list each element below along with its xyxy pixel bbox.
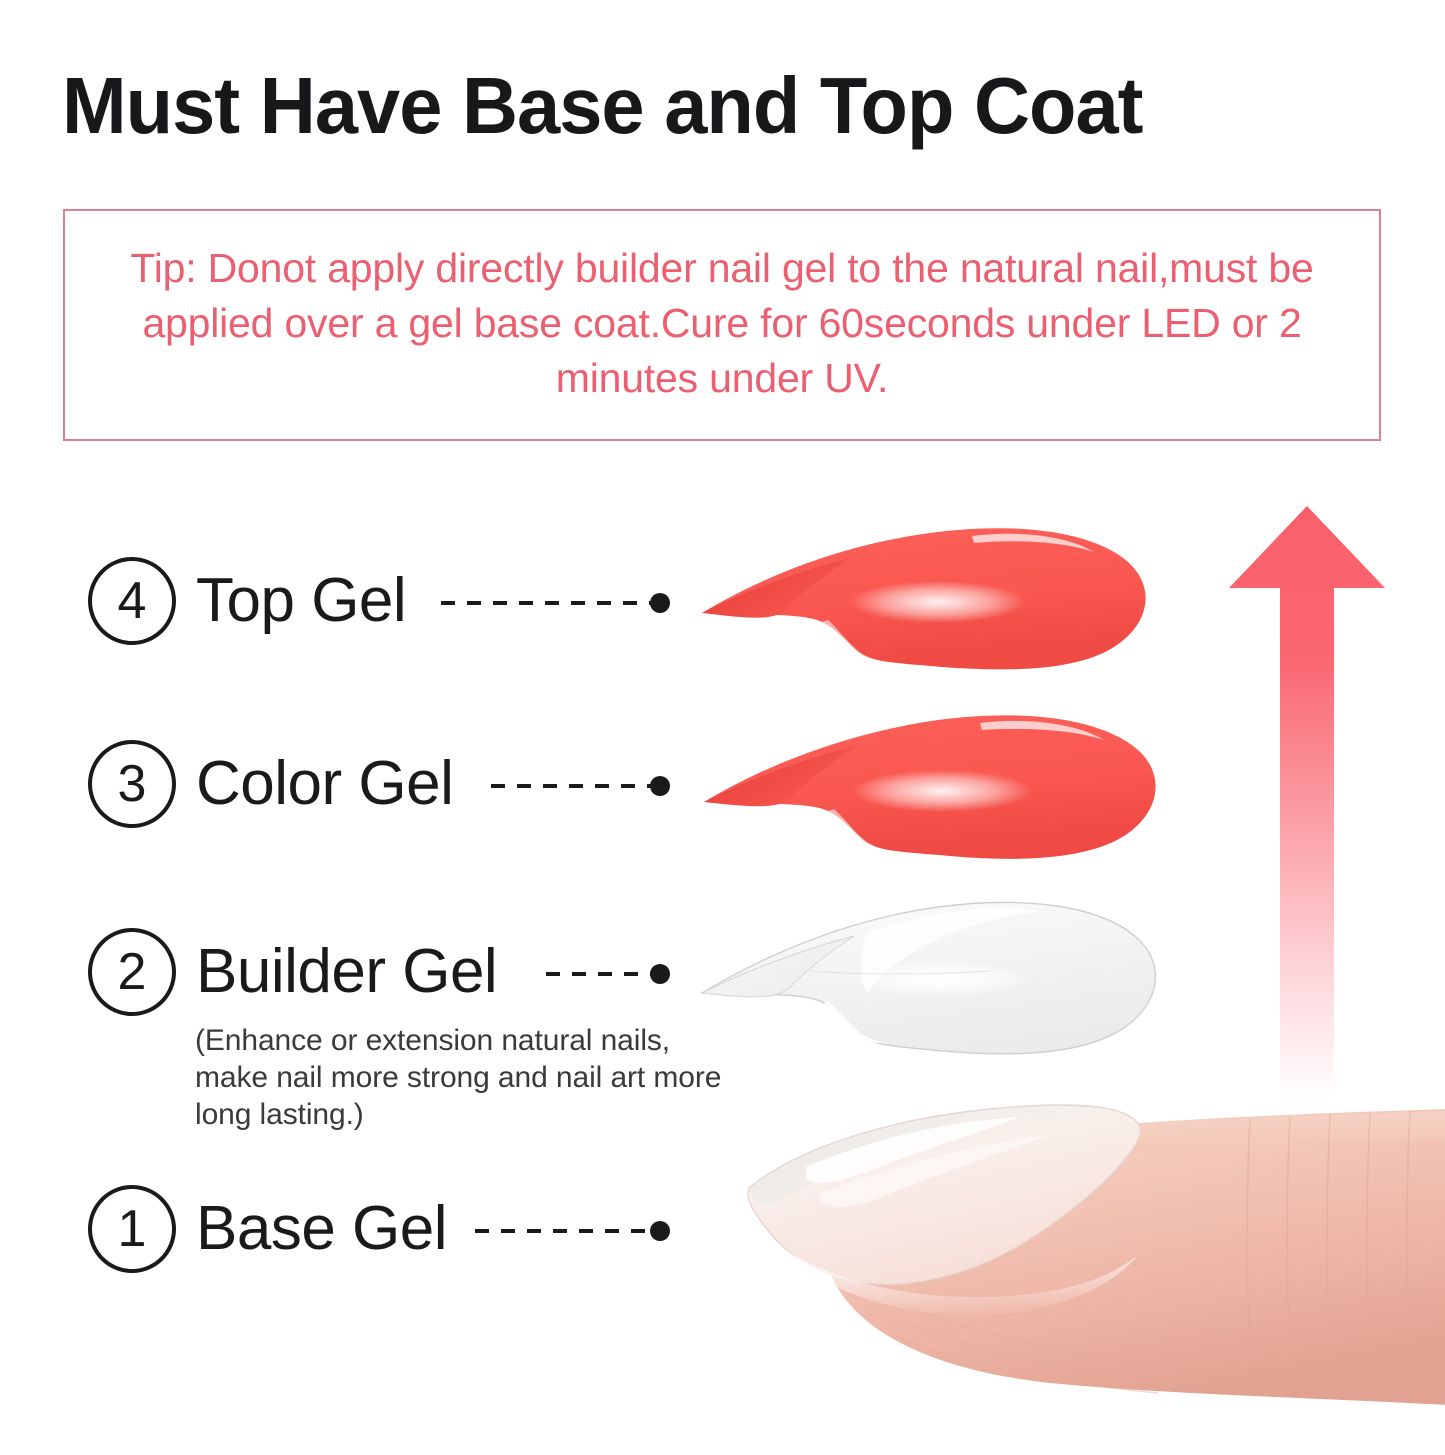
step-label-base-gel: Base Gel xyxy=(196,1187,447,1271)
step-number-badge-1: 1 xyxy=(88,1185,176,1273)
leader-line-base-gel xyxy=(475,1229,657,1233)
step-number-label: 2 xyxy=(92,932,172,1012)
finger-with-natural-nail xyxy=(690,1075,1445,1450)
step-number-badge-4: 4 xyxy=(88,557,176,645)
leader-dot-builder-gel xyxy=(650,964,670,984)
leader-dot-top-gel xyxy=(650,593,670,613)
step-number-badge-2: 2 xyxy=(88,928,176,1016)
leader-dot-base-gel xyxy=(650,1221,670,1241)
leader-line-color-gel xyxy=(491,784,657,788)
leader-line-builder-gel xyxy=(546,972,657,976)
upward-layering-arrow xyxy=(1225,500,1395,1100)
step-number-badge-3: 3 xyxy=(88,740,176,828)
step-label-color-gel: Color Gel xyxy=(196,742,453,826)
swatch-color-gel-red-drop xyxy=(692,702,1172,877)
tip-text: Tip: Donot apply directly builder nail g… xyxy=(65,241,1379,406)
step-description-builder-gel: (Enhance or extension natural nails, mak… xyxy=(195,1022,735,1133)
step-number-label: 1 xyxy=(92,1189,172,1269)
step-number-label: 4 xyxy=(92,561,172,641)
leader-dot-color-gel xyxy=(650,776,670,796)
step-label-top-gel: Top Gel xyxy=(196,559,406,643)
tip-callout-box: Tip: Donot apply directly builder nail g… xyxy=(63,209,1381,441)
leader-line-top-gel xyxy=(441,601,657,605)
step-number-label: 3 xyxy=(92,744,172,824)
page-title: Must Have Base and Top Coat xyxy=(62,58,1352,154)
swatch-top-gel-red-drop xyxy=(690,512,1160,687)
swatch-builder-gel-clear-drop xyxy=(690,893,1170,1083)
step-label-builder-gel: Builder Gel xyxy=(196,930,497,1014)
